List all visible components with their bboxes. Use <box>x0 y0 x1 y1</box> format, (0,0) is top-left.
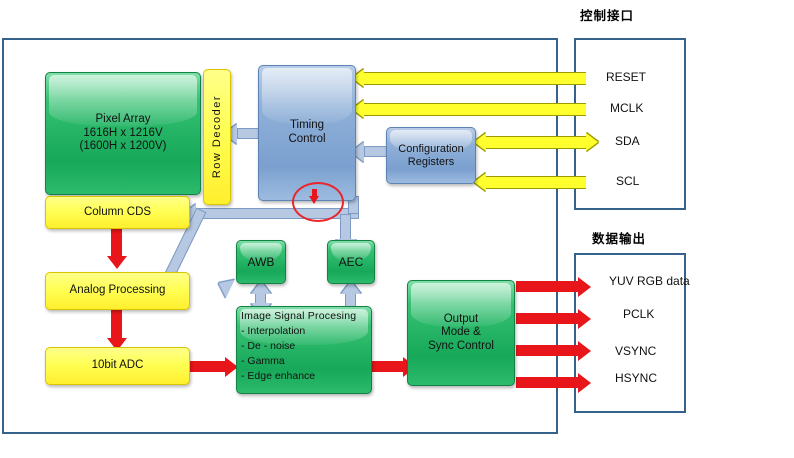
output-mode-line1: Output <box>428 313 494 327</box>
block-configuration-registers[interactable]: Configuration Registers <box>386 127 476 184</box>
sda-signal-shaft <box>486 136 586 149</box>
block-pixel-array[interactable]: Pixel Array 1616H x 1216V (1600H x 1200V… <box>45 72 201 195</box>
vsync-shaft <box>516 345 578 356</box>
config-registers-line2: Registers <box>398 156 463 169</box>
block-column-cds[interactable]: Column CDS <box>45 196 190 229</box>
port-label-reset: RESET <box>606 70 646 84</box>
adc-to-isp-shaft <box>188 361 225 372</box>
row-decoder-label: Row Decoder <box>209 95 226 178</box>
reset-signal-shaft <box>364 72 586 85</box>
isp-to-output-shaft <box>372 361 403 372</box>
isp-item-edge-enhance: - Edge enhance <box>241 370 367 382</box>
timing-control-line2: Control <box>288 133 325 147</box>
cds-to-analog-arrowhead <box>107 256 127 269</box>
config-registers-line1: Configuration <box>398 143 463 156</box>
port-label-vsync: VSYNC <box>615 344 656 358</box>
scl-signal-shaft <box>486 176 586 189</box>
port-label-scl: SCL <box>616 174 639 188</box>
aec-label: AEC <box>337 255 366 269</box>
isp-item-interpolation: - Interpolation <box>241 325 367 337</box>
pixel-array-line3: (1600H x 1200V) <box>80 140 167 154</box>
adc-label: 10bit ADC <box>90 359 146 373</box>
timing-control-line1: Timing <box>288 119 325 133</box>
hsync-shaft <box>516 377 578 388</box>
output-mode-line3: Sync Control <box>428 340 494 354</box>
analog-to-adc-shaft <box>111 310 122 339</box>
isp-title: Image Signal Procesing <box>241 310 367 322</box>
pixel-array-line1: Pixel Array <box>80 113 167 127</box>
config-to-timing-shaft <box>364 146 388 157</box>
control-interface-title: 控制接口 <box>580 5 634 24</box>
block-aec[interactable]: AEC <box>327 240 375 284</box>
isp-item-de-noise: - De - noise <box>241 340 367 352</box>
yuv-rgb-data-arrowhead <box>578 277 591 297</box>
pixel-array-line2: 1616H x 1216V <box>80 127 167 141</box>
pclk-arrowhead <box>578 309 591 329</box>
mclk-signal-shaft <box>364 103 586 116</box>
data-output-title: 数据输出 <box>592 228 646 247</box>
vsync-arrowhead <box>578 341 591 361</box>
port-label-mclk: MCLK <box>610 101 643 115</box>
bus-to-aec-shaft <box>340 214 351 240</box>
block-output-mode-sync-control[interactable]: Output Mode & Sync Control <box>407 280 515 386</box>
highlight-marker-arrowhead <box>309 196 319 204</box>
block-image-signal-processing[interactable]: Image Signal Procesing - Interpolation -… <box>236 306 372 394</box>
block-row-decoder[interactable]: Row Decoder <box>203 69 231 205</box>
output-mode-line2: Mode & <box>428 326 494 340</box>
analog-processing-label: Analog Processing <box>68 284 168 298</box>
port-label-sda: SDA <box>615 134 640 148</box>
cds-to-analog-shaft <box>111 228 122 257</box>
yuv-rgb-data-shaft <box>516 281 578 292</box>
block-awb[interactable]: AWB <box>236 240 286 284</box>
port-label-hsync: HSYNC <box>615 371 657 385</box>
awb-label: AWB <box>246 255 277 269</box>
pclk-shaft <box>516 313 578 324</box>
block-adc[interactable]: 10bit ADC <box>45 347 190 385</box>
block-timing-control[interactable]: Timing Control <box>258 65 356 201</box>
sda-signal-arrowhead-right <box>586 133 598 151</box>
port-label-pclk: PCLK <box>623 307 654 321</box>
hsync-arrowhead <box>578 373 591 393</box>
block-analog-processing[interactable]: Analog Processing <box>45 272 190 310</box>
column-cds-label: Column CDS <box>82 206 153 220</box>
isp-item-gamma: - Gamma <box>241 355 367 367</box>
port-label-yuv-rgb-data: YUV RGB data <box>609 274 690 288</box>
